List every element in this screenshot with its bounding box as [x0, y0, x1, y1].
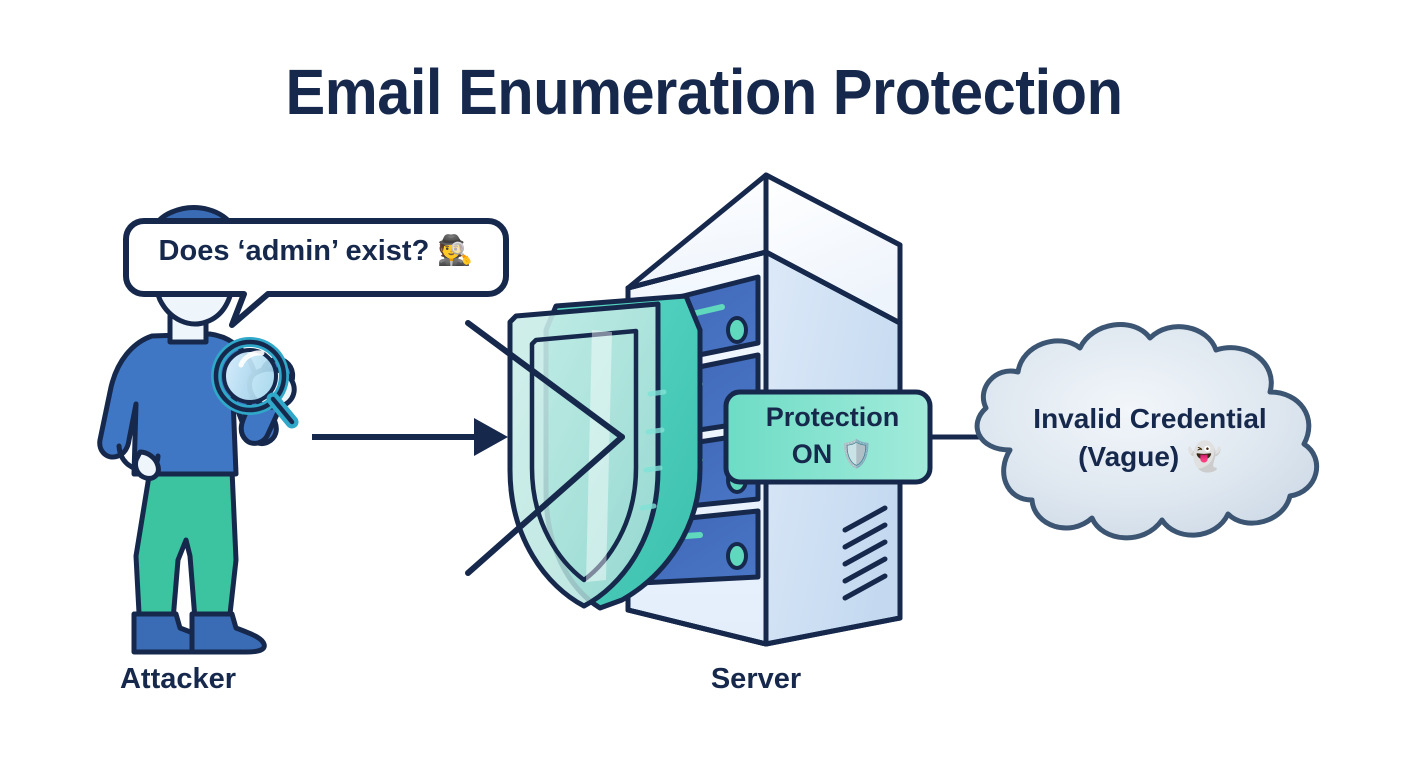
attacker-to-server-arrow: [312, 418, 508, 456]
page-title: Email Enumeration Protection: [49, 58, 1358, 127]
response-cloud-line-2: (Vague) 👻: [1000, 442, 1300, 472]
response-cloud-line-1: Invalid Credential: [1000, 404, 1300, 434]
server-label: Server: [636, 664, 876, 695]
protection-badge-status: ON 🛡️: [735, 440, 930, 469]
attacker-label: Attacker: [58, 664, 298, 695]
protection-badge-label: Protection: [735, 403, 930, 432]
diagram-canvas: Email Enumeration Protection Does ‘admin…: [0, 0, 1408, 768]
attacker-speech-bubble-text: Does ‘admin’ exist? 🕵️: [128, 236, 504, 267]
